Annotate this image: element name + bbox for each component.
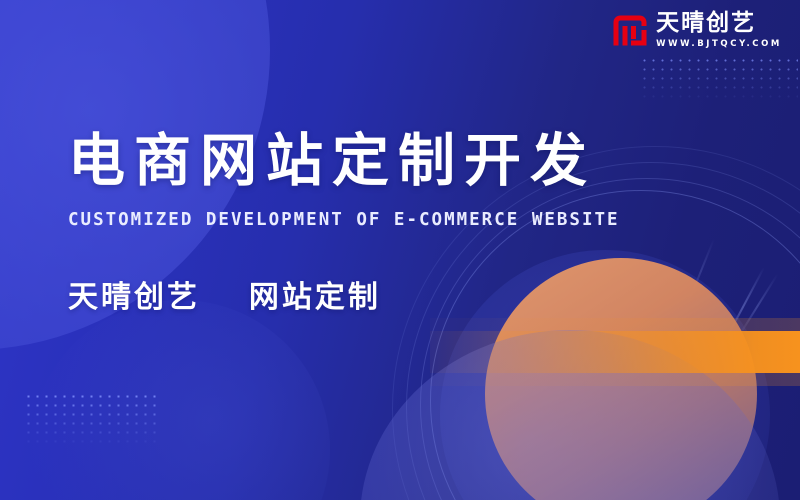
tagline-service: 网站定制 — [249, 280, 381, 315]
tagline: 天晴创艺 网站定制 — [68, 272, 628, 316]
tianqing-chuangyi-logo-mark-icon — [612, 14, 648, 47]
tagline-brand: 天晴创艺 — [68, 280, 200, 315]
orange-bar-halo-bottom — [430, 373, 800, 386]
promo-banner: 天晴创艺 WWW.BJTQCY.COM 电商网站定制开发 CUSTOMIZED … — [0, 0, 800, 500]
dot-grid-bottom-left — [24, 392, 160, 448]
orange-bar-halo-top — [430, 318, 800, 331]
headline-block: 电商网站定制开发 CUSTOMIZED DEVELOPMENT OF E-COM… — [68, 132, 628, 316]
logo-website-url: WWW.BJTQCY.COM — [656, 40, 782, 49]
page-subtitle-en: CUSTOMIZED DEVELOPMENT OF E-COMMERCE WEB… — [68, 210, 628, 230]
page-title: 电商网站定制开发 — [68, 132, 628, 192]
brand-logo[interactable]: 天晴创艺 WWW.BJTQCY.COM — [612, 12, 782, 49]
dot-grid-top-right — [640, 56, 798, 102]
logo-text: 天晴创艺 WWW.BJTQCY.COM — [656, 12, 782, 49]
logo-company-name: 天晴创艺 — [656, 12, 782, 35]
orange-bar-core — [430, 331, 800, 373]
orange-horizontal-bar — [430, 318, 800, 386]
